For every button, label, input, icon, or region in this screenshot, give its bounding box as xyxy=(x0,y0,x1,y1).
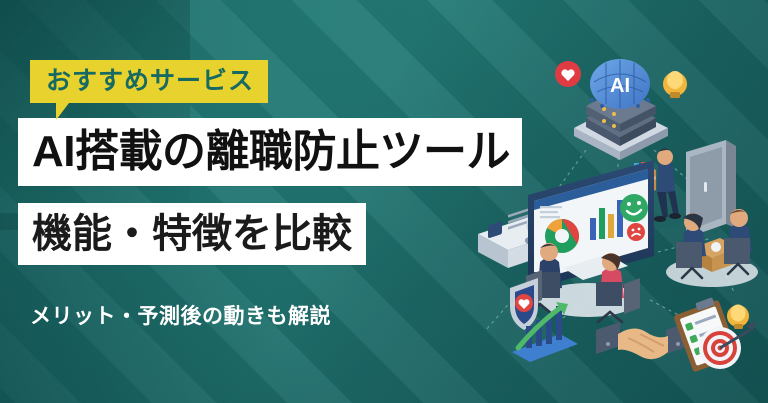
title-box-secondary: 機能・特徴を比較 xyxy=(18,203,366,265)
title-box-primary: AI搭載の離職防止ツール xyxy=(18,118,522,186)
lightbulb-icon xyxy=(727,305,749,330)
happy-face-icon xyxy=(620,194,648,222)
handshake-icon xyxy=(596,322,690,359)
ai-label: AI xyxy=(610,75,630,97)
heart-badge-icon xyxy=(555,61,581,87)
badge-tail-pointer xyxy=(56,103,82,120)
isometric-illustration: AI xyxy=(468,0,768,403)
background-dark-corner xyxy=(0,0,190,230)
title-line-1: AI搭載の離職防止ツール xyxy=(32,130,510,174)
banner-root: AI xyxy=(0,0,768,403)
shield-heart-icon xyxy=(510,278,538,330)
subtitle-text: メリット・予測後の動きも解説 xyxy=(30,300,331,330)
title-line-2: 機能・特徴を比較 xyxy=(32,214,352,254)
badge-label: おすすめサービス xyxy=(46,69,254,94)
sad-face-icon xyxy=(627,223,645,241)
lightbulb-icon xyxy=(663,71,687,98)
recommended-service-badge: おすすめサービス xyxy=(30,60,268,103)
ai-brain-server: AI xyxy=(574,59,668,160)
